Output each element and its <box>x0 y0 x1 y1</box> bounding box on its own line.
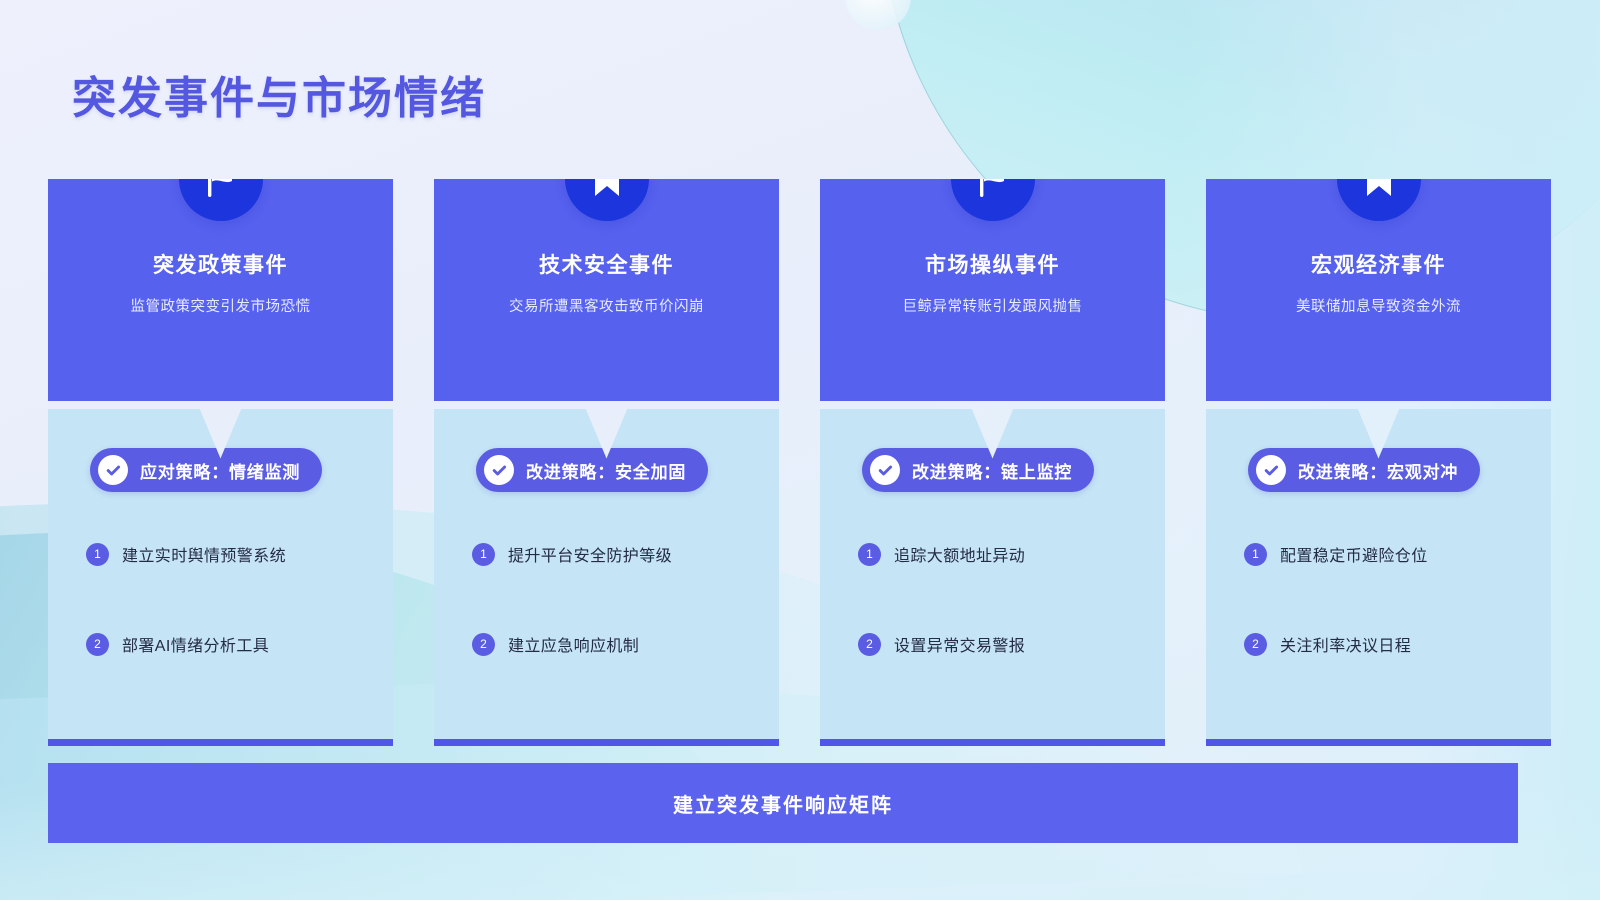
card-accent-bar <box>1206 739 1551 746</box>
strategy-pill[interactable]: 改进策略：宏观对冲 <box>1248 448 1480 492</box>
step-text: 设置异常交易警报 <box>894 632 1025 656</box>
card-grid: 突发政策事件 监管政策突变引发市场恐慌 应对策略：情绪监测 1 建立实时舆情预警… <box>48 179 1552 746</box>
list-item: 2 部署AI情绪分析工具 <box>86 599 375 689</box>
summary-banner-text: 建立突发事件响应矩阵 <box>673 789 893 818</box>
step-number: 1 <box>86 543 109 566</box>
step-number: 1 <box>472 543 495 566</box>
event-card[interactable]: 技术安全事件 交易所遭黑客攻击致币价闪崩 改进策略：安全加固 1 提升平台安全防… <box>434 179 779 746</box>
check-circle-icon <box>98 455 128 485</box>
card-subtitle: 美联储加息导致资金外流 <box>1224 295 1533 316</box>
list-item: 1 追踪大额地址异动 <box>858 509 1147 599</box>
step-list: 1 配置稳定币避险仓位 2 关注利率决议日程 <box>1244 509 1533 689</box>
step-text: 建立实时舆情预警系统 <box>122 542 286 566</box>
list-item: 2 设置异常交易警报 <box>858 599 1147 689</box>
step-text: 部署AI情绪分析工具 <box>122 632 269 656</box>
event-card[interactable]: 宏观经济事件 美联储加息导致资金外流 改进策略：宏观对冲 1 配置稳定币避险仓位 <box>1206 179 1551 746</box>
step-number: 1 <box>1244 543 1267 566</box>
step-list: 1 建立实时舆情预警系统 2 部署AI情绪分析工具 <box>86 509 375 689</box>
list-item: 1 配置稳定币避险仓位 <box>1244 509 1533 599</box>
strategy-pill[interactable]: 改进策略：安全加固 <box>476 448 708 492</box>
check-circle-icon <box>1256 455 1286 485</box>
event-card[interactable]: 市场操纵事件 巨鲸异常转账引发跟风抛售 改进策略：链上监控 1 追踪大额地址异动 <box>820 179 1165 746</box>
step-text: 关注利率决议日程 <box>1280 632 1411 656</box>
card-accent-bar <box>434 739 779 746</box>
list-item: 2 关注利率决议日程 <box>1244 599 1533 689</box>
card-body: 改进策略：安全加固 1 提升平台安全防护等级 2 建立应急响应机制 <box>434 409 779 739</box>
step-number: 1 <box>858 543 881 566</box>
step-list: 1 追踪大额地址异动 2 设置异常交易警报 <box>858 509 1147 689</box>
card-header: 市场操纵事件 巨鲸异常转账引发跟风抛售 <box>820 179 1165 401</box>
strategy-label: 改进策略：宏观对冲 <box>1298 458 1458 483</box>
list-item: 2 建立应急响应机制 <box>472 599 761 689</box>
step-list: 1 提升平台安全防护等级 2 建立应急响应机制 <box>472 509 761 689</box>
list-item: 1 建立实时舆情预警系统 <box>86 509 375 599</box>
card-accent-bar <box>48 739 393 746</box>
card-header: 突发政策事件 监管政策突变引发市场恐慌 <box>48 179 393 401</box>
card-title: 市场操纵事件 <box>838 249 1147 279</box>
card-body: 改进策略：链上监控 1 追踪大额地址异动 2 设置异常交易警报 <box>820 409 1165 739</box>
card-title: 技术安全事件 <box>452 249 761 279</box>
card-title: 宏观经济事件 <box>1224 249 1533 279</box>
card-subtitle: 巨鲸异常转账引发跟风抛售 <box>838 295 1147 316</box>
strategy-label: 应对策略：情绪监测 <box>140 458 300 483</box>
step-text: 提升平台安全防护等级 <box>508 542 672 566</box>
check-circle-icon <box>484 455 514 485</box>
step-number: 2 <box>86 633 109 656</box>
card-body: 改进策略：宏观对冲 1 配置稳定币避险仓位 2 关注利率决议日程 <box>1206 409 1551 739</box>
strategy-label: 改进策略：链上监控 <box>912 458 1072 483</box>
step-number: 2 <box>472 633 495 656</box>
card-body: 应对策略：情绪监测 1 建立实时舆情预警系统 2 部署AI情绪分析工具 <box>48 409 393 739</box>
card-subtitle: 交易所遭黑客攻击致币价闪崩 <box>452 295 761 316</box>
page-title: 突发事件与市场情绪 <box>72 62 486 126</box>
summary-banner[interactable]: 建立突发事件响应矩阵 <box>48 763 1518 843</box>
strategy-pill[interactable]: 应对策略：情绪监测 <box>90 448 322 492</box>
step-text: 追踪大额地址异动 <box>894 542 1025 566</box>
card-header: 技术安全事件 交易所遭黑客攻击致币价闪崩 <box>434 179 779 401</box>
strategy-label: 改进策略：安全加固 <box>526 458 686 483</box>
check-circle-icon <box>870 455 900 485</box>
step-text: 配置稳定币避险仓位 <box>1280 542 1428 566</box>
step-number: 2 <box>858 633 881 656</box>
step-number: 2 <box>1244 633 1267 656</box>
card-header: 宏观经济事件 美联储加息导致资金外流 <box>1206 179 1551 401</box>
card-title: 突发政策事件 <box>66 249 375 279</box>
strategy-pill[interactable]: 改进策略：链上监控 <box>862 448 1094 492</box>
step-text: 建立应急响应机制 <box>508 632 639 656</box>
card-accent-bar <box>820 739 1165 746</box>
event-card[interactable]: 突发政策事件 监管政策突变引发市场恐慌 应对策略：情绪监测 1 建立实时舆情预警… <box>48 179 393 746</box>
card-subtitle: 监管政策突变引发市场恐慌 <box>66 295 375 316</box>
list-item: 1 提升平台安全防护等级 <box>472 509 761 599</box>
